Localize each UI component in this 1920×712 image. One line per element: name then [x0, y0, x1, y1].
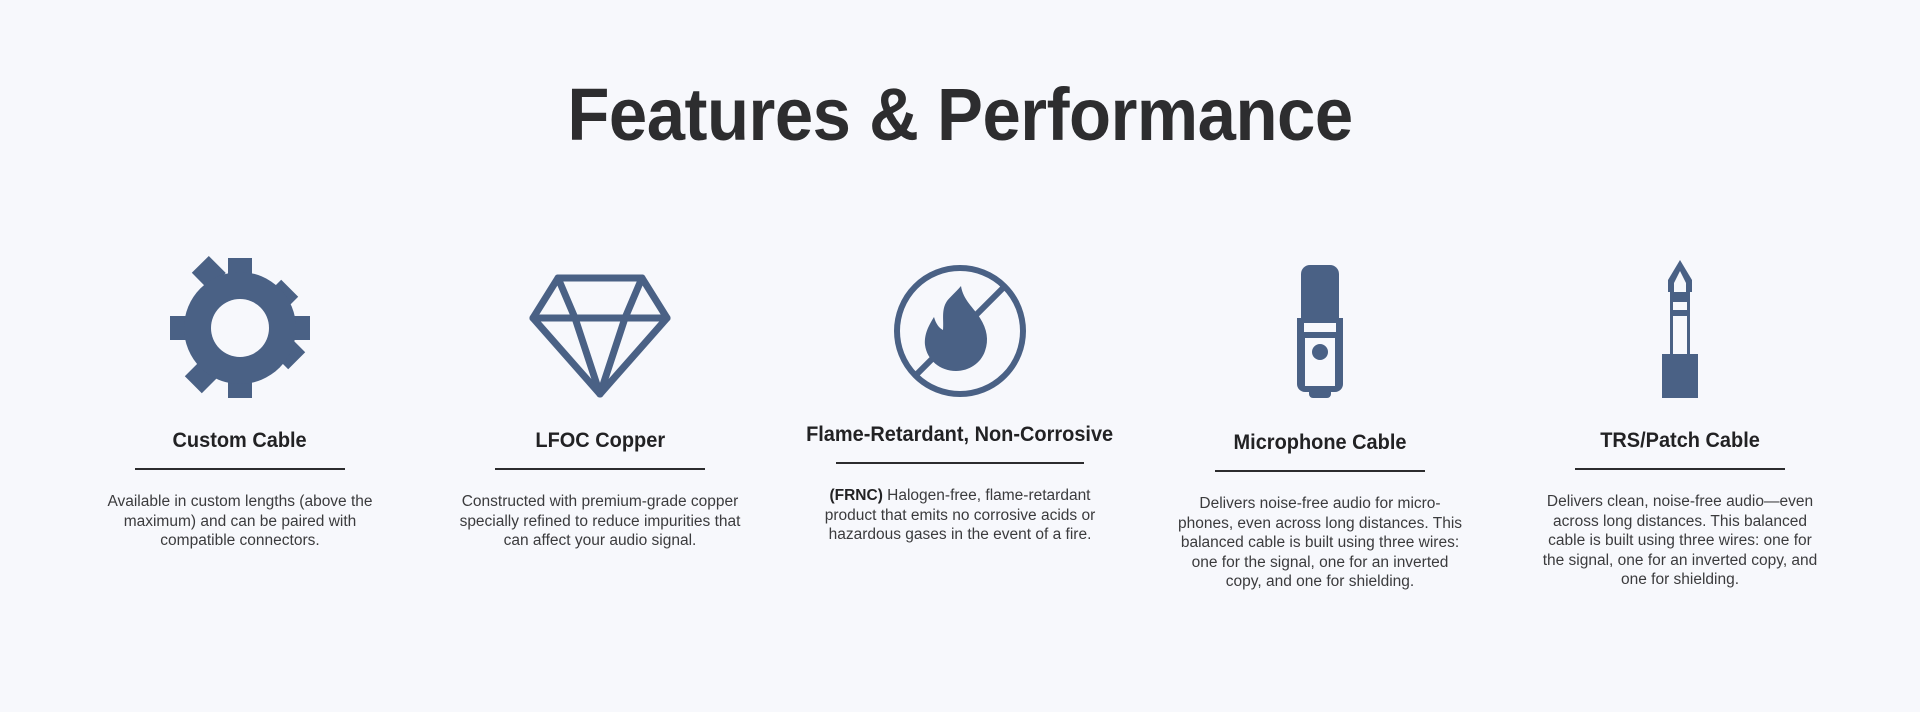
features-performance-section: Features & Performance Custom Cable Avai…	[0, 0, 1920, 712]
feature-divider	[836, 462, 1084, 464]
feature-list: Custom Cable Available in custom lengths…	[0, 248, 1920, 592]
feature-item-trs-patch-cable: TRS/Patch Cable Delivers clean, noise-fr…	[1500, 248, 1860, 590]
diamond-icon	[527, 248, 673, 400]
feature-divider	[135, 468, 345, 470]
feature-heading: LFOC Copper	[535, 428, 665, 454]
feature-item-flame-retardant: Flame-Retardant, Non-Corrosive (FRNC) Ha…	[780, 248, 1140, 545]
feature-heading: Microphone Cable	[1234, 430, 1407, 456]
feature-body-emphasis: (FRNC)	[829, 487, 882, 504]
feature-divider	[495, 468, 705, 470]
feature-body: Available in custom lengths (above the m…	[106, 492, 374, 551]
feature-body: Delivers noise-free audio for micro-phon…	[1174, 494, 1466, 592]
feature-heading: TRS/Patch Cable	[1600, 428, 1760, 454]
feature-body: Constructed with premium-grade copper sp…	[455, 492, 745, 551]
feature-body: (FRNC) Halogen-free, flame-retardant pro…	[820, 486, 1100, 545]
feature-item-lfoc-copper: LFOC Copper Constructed with premium-gra…	[420, 248, 780, 551]
feature-divider	[1215, 470, 1425, 472]
feature-heading: Flame-Retardant, Non-Corrosive	[806, 422, 1113, 448]
feature-heading: Custom Cable	[173, 428, 307, 454]
page-title: Features & Performance	[67, 72, 1853, 158]
gear-icon	[168, 248, 312, 400]
feature-item-custom-cable: Custom Cable Available in custom lengths…	[60, 248, 420, 551]
microphone-icon	[1289, 248, 1351, 400]
feature-item-microphone-cable: Microphone Cable Delivers noise-free aud…	[1140, 248, 1500, 592]
feature-divider	[1575, 468, 1785, 470]
trs-plug-icon	[1659, 248, 1701, 400]
feature-body: Delivers clean, noise-free audio—even ac…	[1536, 492, 1824, 590]
no-flame-icon	[891, 248, 1029, 400]
